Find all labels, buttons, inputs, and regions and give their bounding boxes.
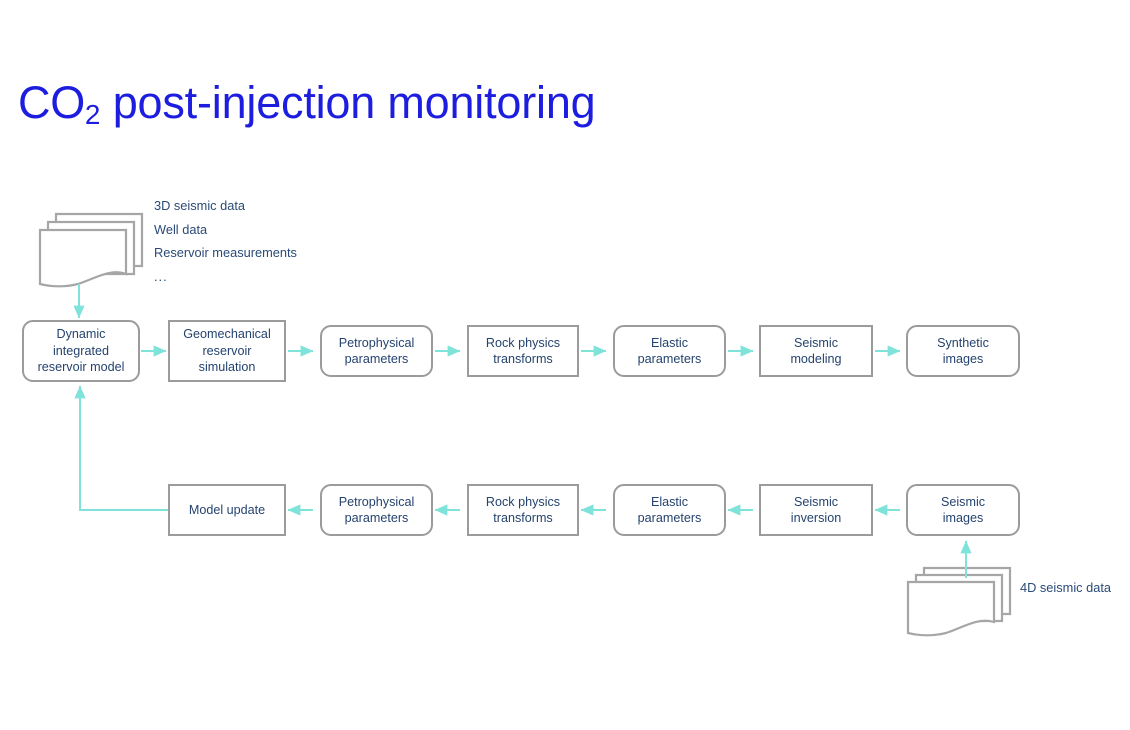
node-dynamic-integrated-reservoir-model[interactable]: Dynamicintegratedreservoir model — [22, 320, 140, 382]
node-seismic-modeling[interactable]: Seismicmodeling — [759, 325, 873, 377]
node-synthetic-images[interactable]: Syntheticimages — [906, 325, 1020, 377]
node-petrophysical-parameters-forward[interactable]: Petrophysicalparameters — [320, 325, 433, 377]
observed-data-label: 4D seismic data — [1020, 580, 1111, 595]
observed-data-stack-icon — [900, 562, 1018, 647]
input-source-label-1: Well data — [154, 222, 297, 237]
input-source-label-3: ... — [154, 269, 297, 284]
node-rock-physics-transforms-forward[interactable]: Rock physicstransforms — [467, 325, 579, 377]
node-model-update[interactable]: Model update — [168, 484, 286, 536]
page-title-rest: post-injection monitoring — [100, 77, 595, 128]
input-source-label-2: Reservoir measurements — [154, 245, 297, 260]
document-stack-svg-2 — [900, 562, 1018, 642]
node-elastic-parameters-forward[interactable]: Elasticparameters — [613, 325, 726, 377]
input-data-stack-icon — [32, 208, 150, 301]
input-source-label-0: 3D seismic data — [154, 198, 297, 213]
node-seismic-inversion[interactable]: Seismicinversion — [759, 484, 873, 536]
node-petrophysical-parameters-inverse[interactable]: Petrophysicalparameters — [320, 484, 433, 536]
node-rock-physics-transforms-inverse[interactable]: Rock physicstransforms — [467, 484, 579, 536]
page-title-co: CO — [18, 77, 85, 128]
node-geomechanical-reservoir-simulation[interactable]: Geomechanicalreservoirsimulation — [168, 320, 286, 382]
page-title: CO2 post-injection monitoring — [18, 80, 595, 125]
slide-canvas: CO2 post-injection monitoring 3D seismic… — [0, 0, 1130, 730]
document-stack-svg — [32, 208, 150, 296]
page-title-subscript: 2 — [85, 99, 100, 130]
node-elastic-parameters-inverse[interactable]: Elasticparameters — [613, 484, 726, 536]
input-data-source-labels: 3D seismic data Well data Reservoir meas… — [154, 198, 297, 284]
observed-data-source-label-wrap: 4D seismic data — [1020, 580, 1111, 595]
arrow-feedback-loop — [80, 386, 170, 510]
node-seismic-images[interactable]: Seismicimages — [906, 484, 1020, 536]
